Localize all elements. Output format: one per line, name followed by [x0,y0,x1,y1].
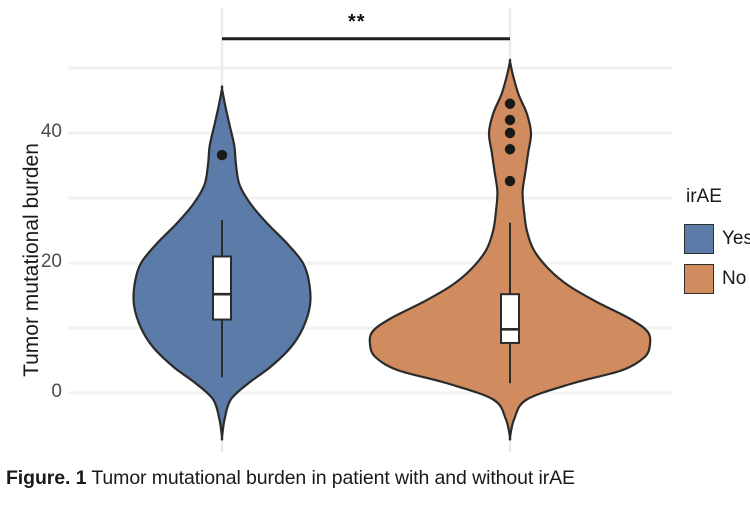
legend-swatch-yes[interactable] [684,224,714,254]
legend-label-yes: Yes [722,228,750,250]
figure-root: Tumor mutational burden 02040 ** irAE Ye… [0,0,750,529]
figure-caption: Figure. 1 Tumor mutational burden in pat… [6,467,575,490]
y-tick-label: 0 [14,381,62,403]
caption-bar: Figure. 1 Tumor mutational burden in pat… [0,455,750,529]
figure-caption-body: Tumor mutational burden in patient with … [86,467,575,489]
figure-caption-label: Figure. 1 [6,467,86,489]
y-tick-label: 40 [14,121,62,143]
y-tick-label: 20 [14,251,62,273]
legend-title: irAE [686,186,722,208]
violin-plot-canvas [0,0,750,460]
significance-stars-label: ** [348,11,366,34]
legend-swatch-no[interactable] [684,264,714,294]
legend-label-no: No [722,268,746,290]
